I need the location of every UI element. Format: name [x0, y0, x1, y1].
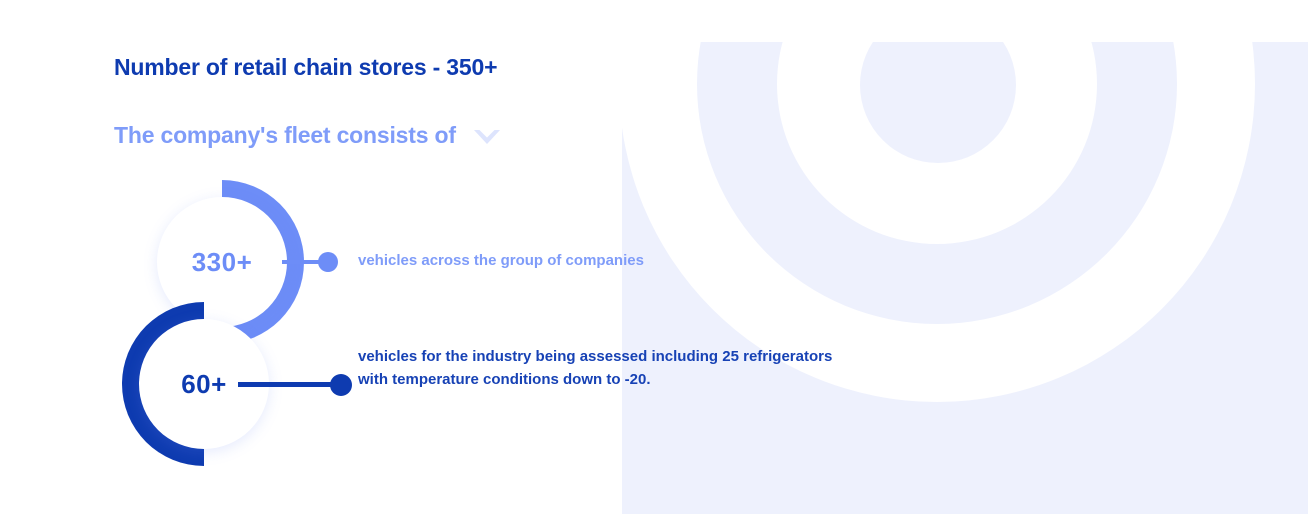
- page-title: Number of retail chain stores - 350+: [114, 54, 497, 81]
- subtitle-row: The company's fleet consists of: [114, 122, 502, 149]
- fleet-stat-assessed-label: vehicles for the industry being assessed…: [358, 346, 838, 391]
- connector-dot-total: [318, 252, 338, 272]
- background-ring-core: [860, 42, 1016, 163]
- donut-value-total: 330+: [192, 247, 253, 278]
- fleet-stat-assessed: 60+ vehicles for the industry being asse…: [122, 302, 882, 470]
- fleet-stat-total-label: vehicles across the group of companies: [358, 250, 828, 272]
- chevron-down-icon: [472, 123, 502, 149]
- connector-dot-assessed: [330, 374, 352, 396]
- page-subtitle: The company's fleet consists of: [114, 122, 456, 149]
- donut-value-assessed: 60+: [181, 369, 227, 400]
- connector-line-assessed: [238, 382, 338, 387]
- infographic-canvas: Number of retail chain stores - 350+ The…: [0, 0, 1308, 514]
- connector-line-total: [282, 260, 322, 264]
